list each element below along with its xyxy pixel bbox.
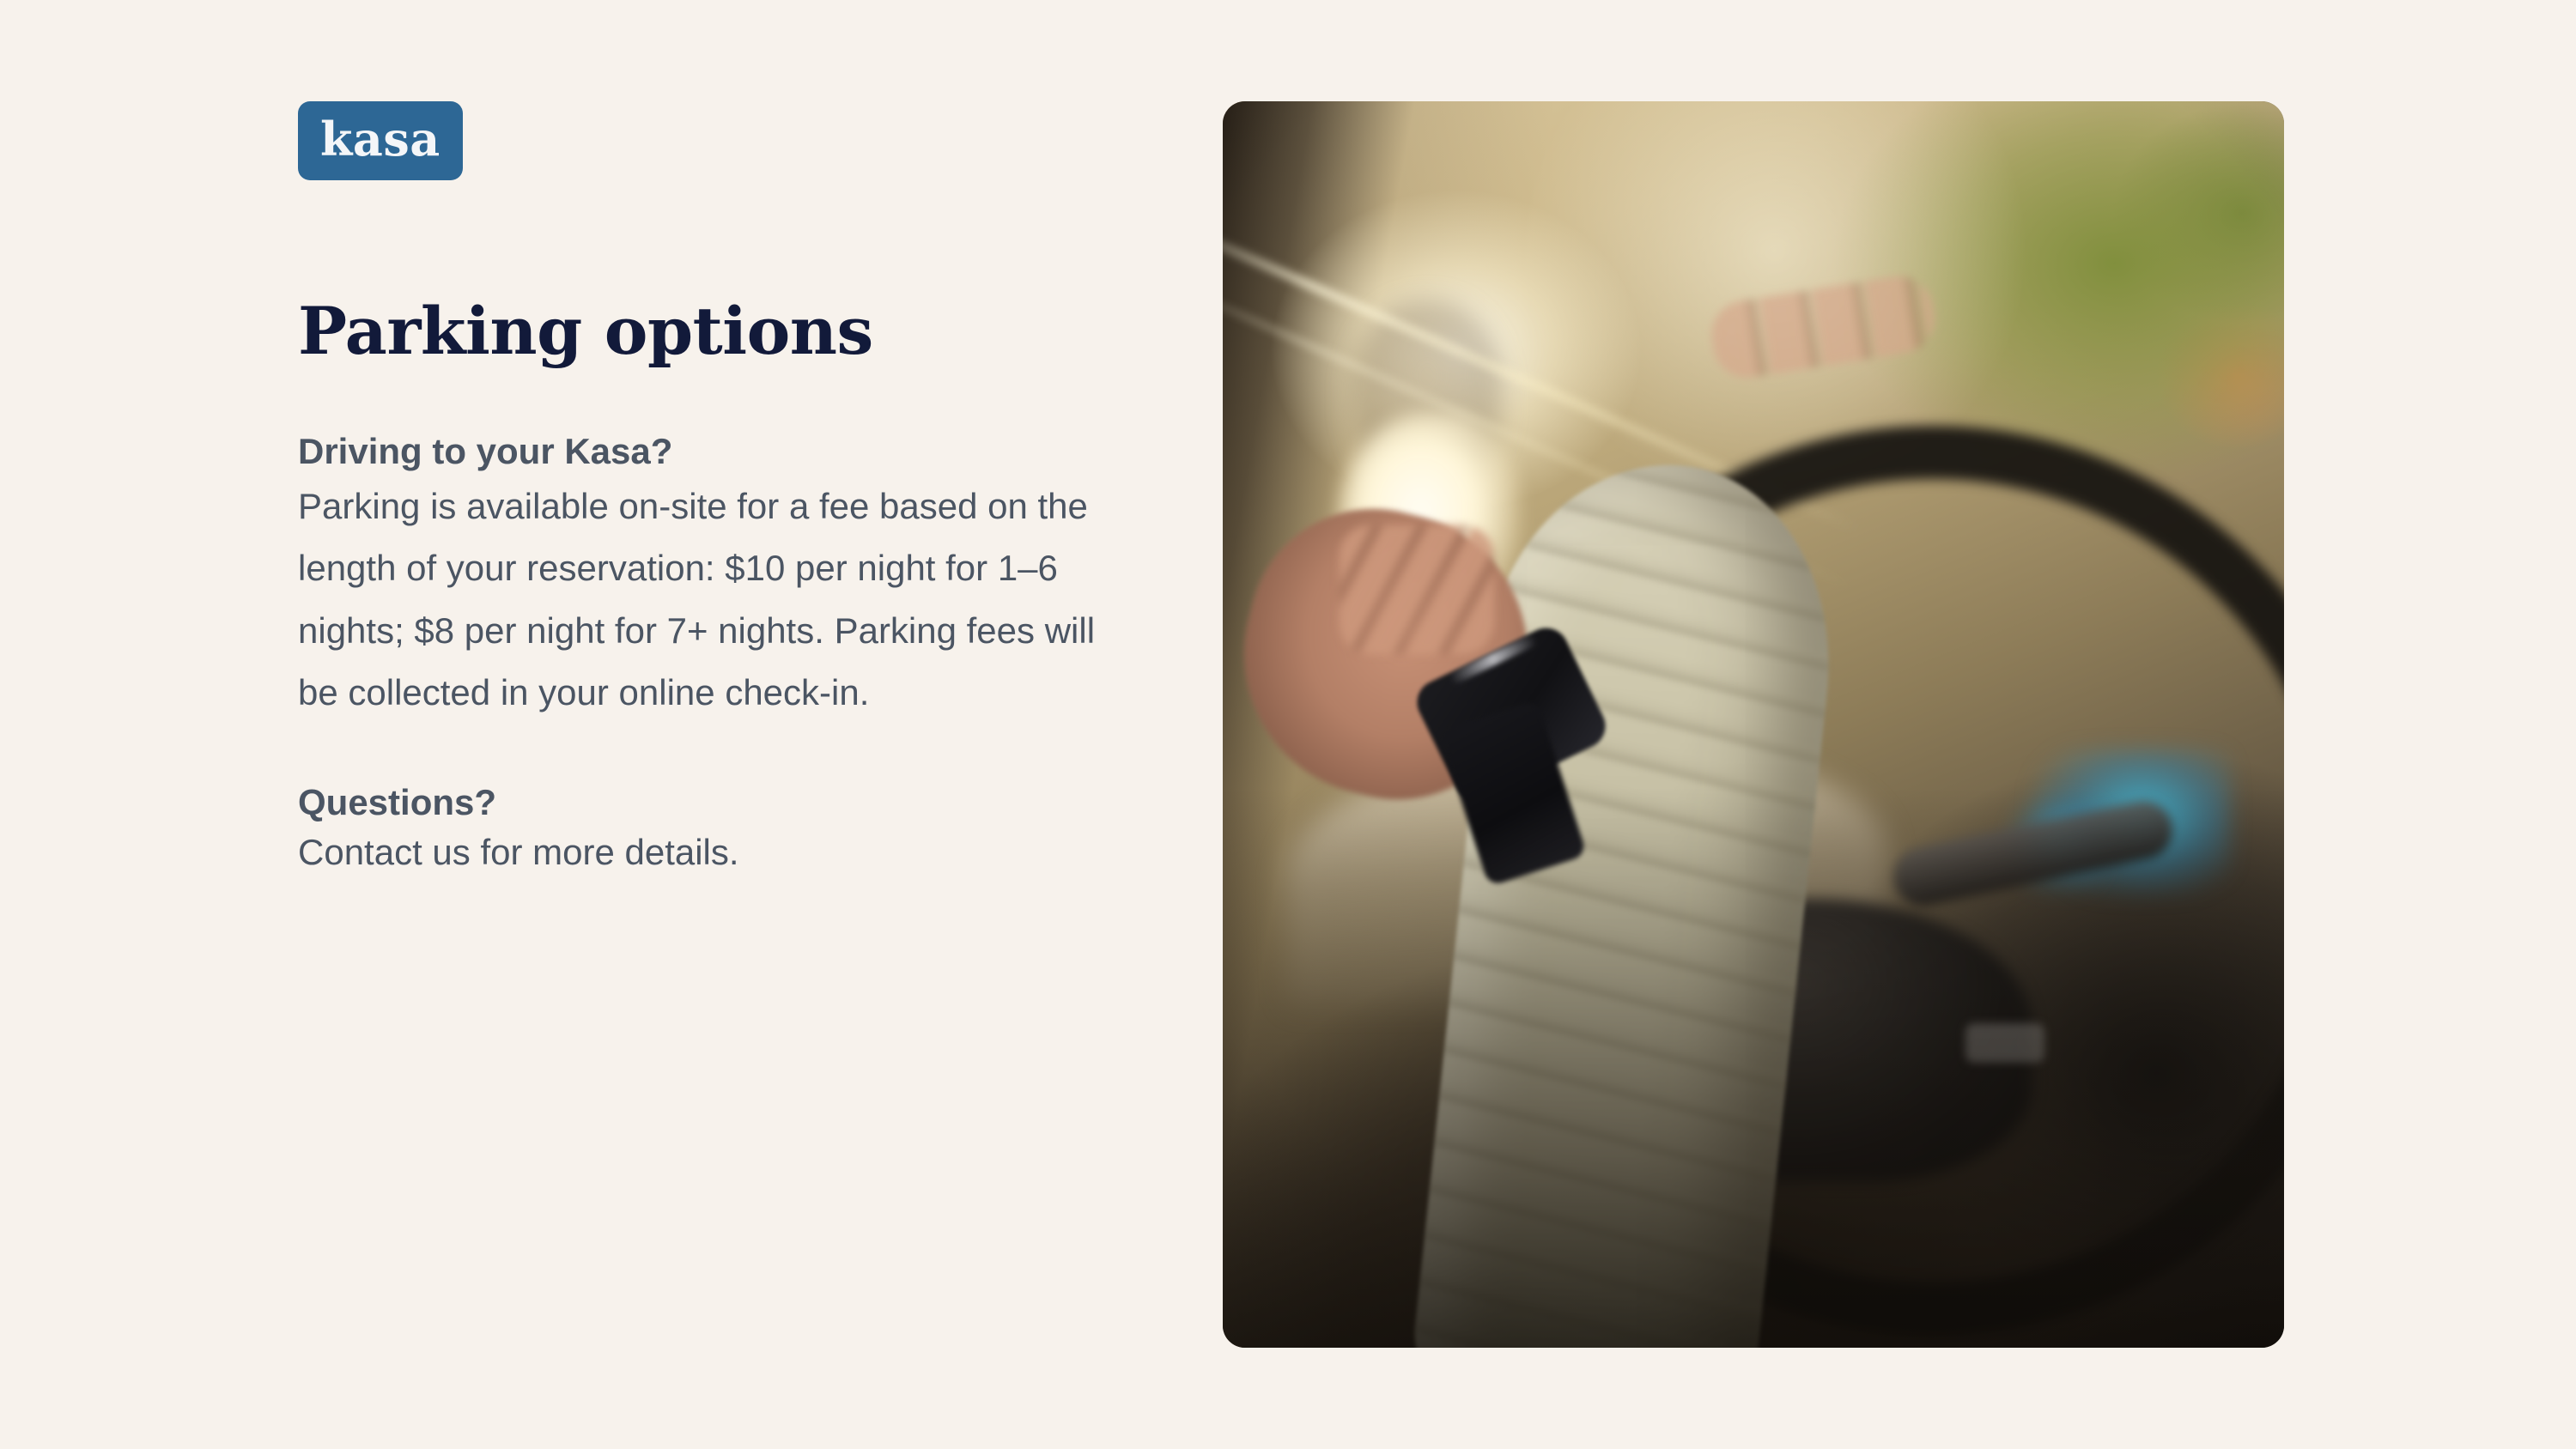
page-title: Parking options bbox=[298, 297, 873, 366]
body-block: Driving to your Kasa? Parking is availab… bbox=[298, 429, 1122, 879]
driving-section-paragraph: Parking is available on-site for a fee b… bbox=[298, 476, 1097, 724]
section-divider-space bbox=[298, 724, 1122, 780]
kasa-logo[interactable]: kasa bbox=[298, 101, 463, 180]
questions-section-lede: Questions? bbox=[298, 780, 1122, 825]
slide-root: kasa Parking options Driving to your Kas… bbox=[0, 0, 2576, 1449]
kasa-logo-text: kasa bbox=[320, 116, 440, 162]
driving-section-lede: Driving to your Kasa? bbox=[298, 429, 1122, 474]
photo-vignette bbox=[1223, 101, 2284, 1348]
driving-photo bbox=[1223, 101, 2284, 1348]
questions-section-paragraph: Contact us for more details. bbox=[298, 827, 1122, 879]
photo-canvas bbox=[1223, 101, 2284, 1348]
content-column: kasa Parking options Driving to your Kas… bbox=[298, 101, 1122, 180]
